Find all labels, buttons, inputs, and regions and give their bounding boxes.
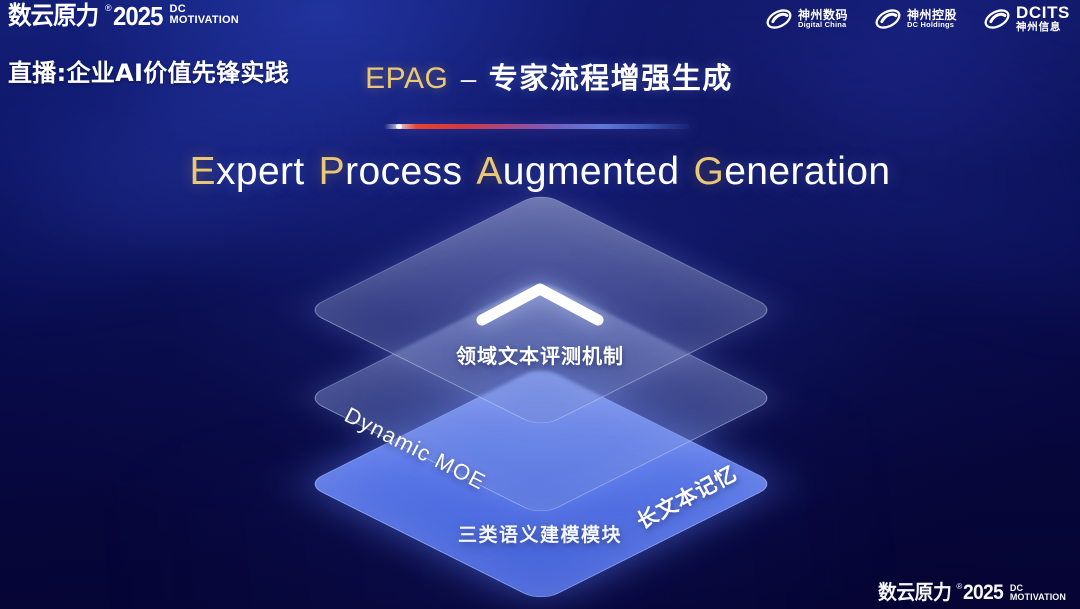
partner-name-en: DCITS (1016, 4, 1070, 21)
subtitle-word-rest: rocess (345, 150, 462, 193)
brand-dc-line2: MOTIVATION (170, 15, 239, 26)
subtitle-word-initial: A (476, 150, 502, 193)
swirl-logo-icon (983, 5, 1011, 33)
subtitle-word-initial: P (319, 150, 345, 193)
brand-name-cn: 数云原力 (8, 3, 98, 28)
slide-subtitle: ExpertProcessAugmentedGeneration (0, 150, 1080, 194)
brand-logo-topleft: 数云原力 ® 2025 DC MOTIVATION (8, 3, 239, 29)
headline-acronym: EPAG (365, 62, 448, 95)
gradient-divider (396, 124, 690, 129)
registered-mark: ® (105, 4, 112, 13)
partner-logo-digital-china: 神州数码 Digital China (765, 5, 848, 33)
watermark-year: 2025 (963, 582, 1003, 603)
watermark-dc-motivation: DC MOTIVATION (1010, 584, 1066, 602)
subtitle-word: Generation (693, 150, 890, 193)
watermark-dc-line2: MOTIVATION (1010, 593, 1066, 602)
subtitle-word-initial: G (693, 150, 724, 193)
partner-name-en: Digital China (798, 21, 848, 29)
partner-name-en: DC Holdings (907, 21, 957, 29)
layered-architecture-diagram: 领域文本评测机制 Dynamic MOE 长文本记忆 三类语义建模模块 (290, 232, 790, 562)
brand-watermark-bottomright: 数云原力 ® 2025 DC MOTIVATION (878, 582, 1066, 603)
headline-dash: – (461, 63, 477, 94)
slide-headline: EPAG – 专家流程增强生成 (0, 55, 1080, 97)
subtitle-word-rest: xpert (216, 150, 305, 193)
swirl-logo-icon (765, 5, 793, 33)
presentation-slide: 数云原力 ® 2025 DC MOTIVATION 直播:企业AI价值先锋实践 … (0, 0, 1080, 609)
partner-logo-dc-holdings: 神州控股 DC Holdings (874, 5, 957, 33)
partner-logo-dcits: DCITS 神州信息 (983, 4, 1070, 34)
subtitle-word-rest: ugmented (503, 150, 680, 193)
subtitle-word-rest: eneration (724, 150, 890, 193)
brand-year: 2025 (113, 3, 163, 29)
brand-dc-motivation: DC MOTIVATION (170, 4, 239, 26)
partner-name-cn: 神州信息 (1016, 21, 1070, 34)
subtitle-word: Augmented (476, 150, 679, 193)
headline-title-cn: 专家流程增强生成 (489, 61, 733, 95)
watermark-name-cn: 数云原力 (878, 582, 951, 602)
subtitle-word: Process (319, 150, 463, 193)
swirl-logo-icon (874, 5, 902, 33)
watermark-registered-mark: ® (956, 583, 962, 591)
subtitle-word: Expert (190, 150, 305, 193)
partner-logo-group: 神州数码 Digital China 神州控股 DC Holdings DCIT… (765, 4, 1070, 34)
subtitle-word-initial: E (190, 150, 216, 193)
